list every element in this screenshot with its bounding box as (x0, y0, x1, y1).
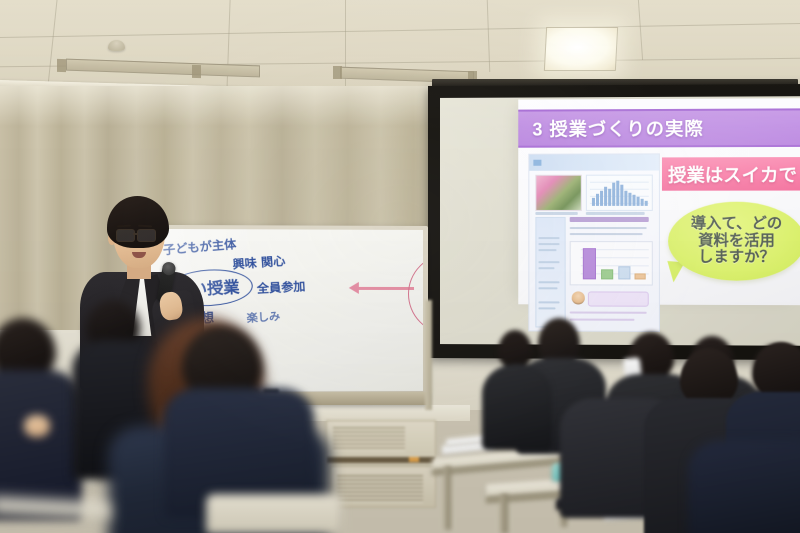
slide-pink-banner: 授業はスイカで (662, 157, 800, 191)
wall-heater-unit-lower (330, 466, 436, 508)
curtain-highlight (0, 86, 470, 126)
presenter-glasses-right (137, 229, 156, 242)
chair-back (206, 494, 342, 533)
lecture-room-photo: 3 授業づくりの実際 (0, 0, 800, 533)
slide-body: 授業はスイカで 導入て、どの 資料を活用 しますか？ (518, 149, 800, 305)
presenter-glasses-bridge (133, 233, 137, 235)
embedded-bar-chart-1 (586, 175, 653, 211)
ceiling-light-fixture (66, 59, 260, 78)
embedded-bar-chart-2 (570, 241, 653, 285)
smoke-detector-icon (108, 40, 125, 51)
ceiling-light-on (544, 27, 618, 71)
page-sidebar-box (535, 217, 565, 328)
page-header-strip (529, 154, 659, 170)
presenter-glasses-left (116, 229, 135, 242)
slide-title: 3 授業づくりの実際 (518, 115, 704, 142)
page-avatar-icon (572, 291, 585, 304)
balloon-line-1: 導入て、どの (691, 216, 782, 233)
slide-pink-banner-text: 授業はスイカで (662, 161, 797, 188)
embedded-textbook-page (528, 153, 660, 332)
balloon-line-2: 資料を活用 (698, 233, 775, 250)
balloon-line-3: しますか？ (698, 250, 775, 267)
slide-speech-balloon: 導入て、どの 資料を活用 しますか？ (668, 202, 800, 281)
projected-slide: 3 授業づくりの実際 (518, 98, 800, 305)
wall-heater-unit (326, 420, 436, 466)
page-comment-bubble (588, 291, 649, 306)
slide-title-bar: 3 授業づくりの実際 (518, 108, 800, 147)
page-subheading (570, 217, 649, 222)
projection-screen: 3 授業づくりの実際 (428, 84, 800, 360)
projection-screen-surface: 3 授業づくりの実際 (440, 96, 800, 346)
watermelon-photo (535, 175, 581, 211)
whiteboard-support-post (425, 300, 432, 410)
